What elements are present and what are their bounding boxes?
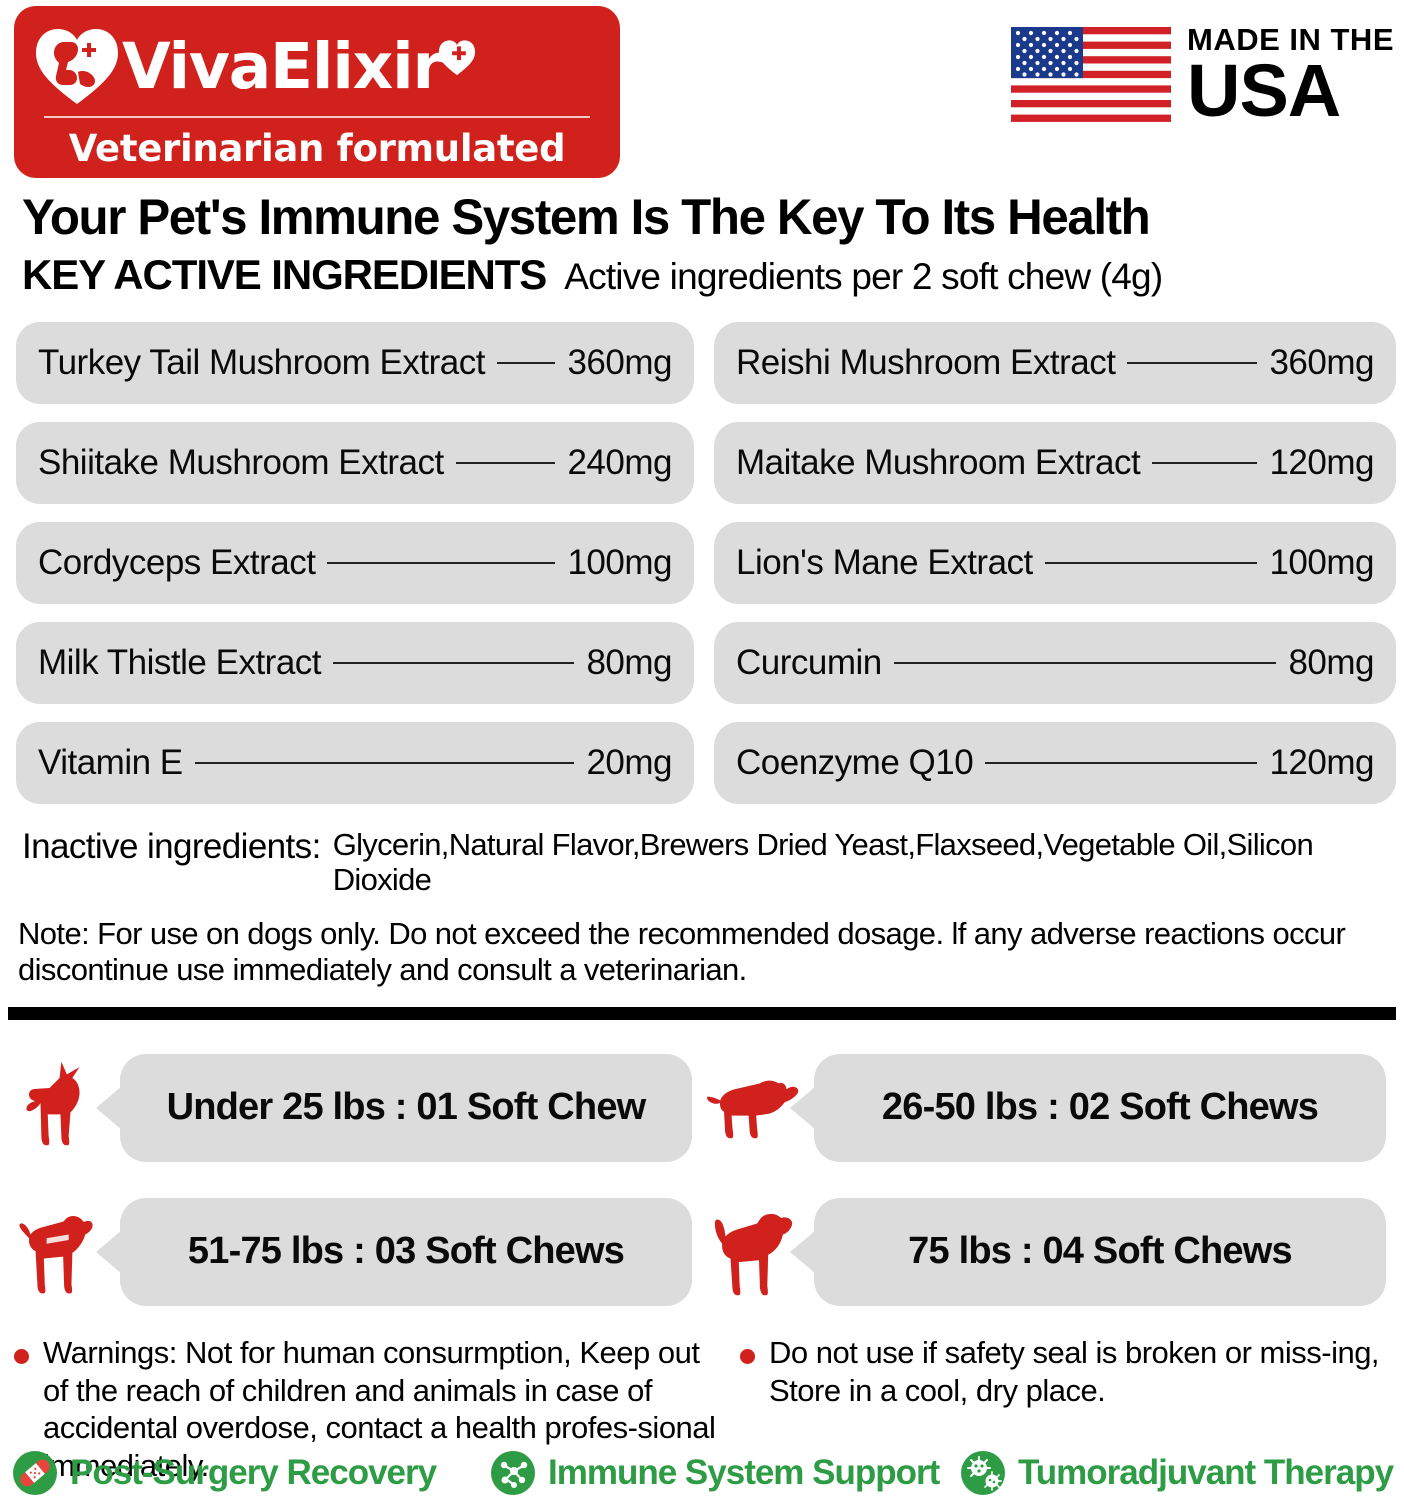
brand-top-row: VivaElixir	[34, 20, 600, 112]
dosage-bubble: 26-50 lbs : 02 Soft Chews	[814, 1054, 1386, 1162]
ingredient-name: Turkey Tail Mushroom Extract	[38, 343, 485, 383]
cell-icon	[960, 1450, 1006, 1496]
leader-line	[894, 662, 1277, 664]
ingredient-amount: 120mg	[1269, 743, 1374, 783]
leader-line	[456, 462, 556, 464]
dosage-row: 26-50 lbs : 02 Soft Chews	[704, 1036, 1398, 1180]
ingredient-row: Milk Thistle Extract 80mg	[16, 622, 694, 704]
leader-line	[1152, 462, 1257, 464]
leader-line	[1045, 562, 1258, 564]
benefit-item: Immune System Support	[490, 1450, 960, 1496]
leader-line	[195, 762, 575, 764]
leader-line	[497, 362, 556, 364]
dosage-label: Under 25 lbs : 01 Soft Chew	[167, 1086, 646, 1129]
bandage-icon	[12, 1450, 58, 1496]
dosage-label: 26-50 lbs : 02 Soft Chews	[882, 1086, 1318, 1129]
inactive-ingredients-label: Inactive ingredients:	[22, 827, 321, 867]
brand-name: VivaElixir	[122, 35, 442, 98]
brand-tagline: Veterinarian formulated	[34, 127, 600, 170]
brand-divider	[44, 116, 590, 118]
ingredient-row: Coenzyme Q10 120mg	[714, 722, 1396, 804]
ingredients-grid: Turkey Tail Mushroom Extract 360mg Reish…	[10, 313, 1390, 813]
dosage-row: 75 lbs : 04 Soft Chews	[704, 1180, 1398, 1324]
ingredient-name: Shiitake Mushroom Extract	[38, 443, 444, 483]
serving-size-label: Active ingredients per 2 soft chew (4g)	[564, 256, 1162, 298]
benefit-label: Post-Surgery Recovery	[70, 1453, 436, 1493]
ingredient-amount: 120mg	[1269, 443, 1374, 483]
ingredient-amount: 240mg	[567, 443, 672, 483]
made-in-usa-badge: MADE IN THE USA	[1011, 24, 1394, 125]
ingredient-amount: 360mg	[1269, 343, 1374, 383]
ingredient-name: Lion's Mane Extract	[736, 543, 1033, 583]
key-active-ingredients-label: KEY ACTIVE INGREDIENTS	[22, 251, 546, 299]
leader-line	[333, 662, 574, 664]
product-label-page: VivaElixir Veterinarian formulated	[0, 0, 1404, 1500]
ingredient-amount: 100mg	[567, 543, 672, 583]
dosage-label: 75 lbs : 04 Soft Chews	[908, 1230, 1292, 1273]
section-divider	[8, 1007, 1396, 1020]
dosage-bubble: 51-75 lbs : 03 Soft Chews	[120, 1198, 692, 1306]
ingredient-name: Maitake Mushroom Extract	[736, 443, 1140, 483]
ingredient-name: Milk Thistle Extract	[38, 643, 321, 683]
dosage-label: 51-75 lbs : 03 Soft Chews	[188, 1230, 624, 1273]
leader-line	[1127, 362, 1257, 364]
label-header: VivaElixir Veterinarian formulated	[0, 0, 1404, 188]
usa-flag-icon	[1011, 27, 1171, 122]
bullet-icon	[14, 1349, 29, 1364]
ingredient-name: Vitamin E	[38, 743, 183, 783]
benefits-row: Post-Surgery Recovery	[0, 1450, 1404, 1496]
ingredient-name: Cordyceps Extract	[38, 543, 315, 583]
ingredient-name: Coenzyme Q10	[736, 743, 973, 783]
molecule-icon	[490, 1450, 536, 1496]
dosage-bubble: 75 lbs : 04 Soft Chews	[814, 1198, 1386, 1306]
usage-note: Note: For use on dogs only. Do not excee…	[18, 916, 1396, 989]
ingredient-amount: 80mg	[1288, 643, 1374, 683]
ingredient-row: Reishi Mushroom Extract 360mg	[714, 322, 1396, 404]
brand-block: VivaElixir Veterinarian formulated	[14, 6, 620, 178]
inactive-ingredients-value: Glycerin,Natural Flavor,Brewers Dried Ye…	[333, 827, 1392, 898]
ingredient-name: Reishi Mushroom Extract	[736, 343, 1115, 383]
page-title: Your Pet's Immune System Is The Key To I…	[22, 190, 1369, 244]
warning-text: Do not use if safety seal is broken or m…	[769, 1334, 1400, 1410]
usa-label: USA	[1187, 57, 1394, 125]
usa-text-block: MADE IN THE USA	[1187, 24, 1394, 125]
ingredient-row: Cordyceps Extract 100mg	[16, 522, 694, 604]
benefit-item: Tumoradjuvant Therapy	[960, 1450, 1404, 1496]
ingredient-amount: 80mg	[586, 643, 672, 683]
ingredient-row: Vitamin E 20mg	[16, 722, 694, 804]
brand-wordmark: VivaElixir	[122, 35, 476, 98]
key-ingredients-subhead: KEY ACTIVE INGREDIENTS Active ingredient…	[22, 251, 1390, 299]
leader-line	[327, 562, 555, 564]
dosage-row: Under 25 lbs : 01 Soft Chew	[10, 1036, 704, 1180]
dosage-row: 51-75 lbs : 03 Soft Chews	[10, 1180, 704, 1324]
ingredient-amount: 360mg	[567, 343, 672, 383]
ingredient-row: Turkey Tail Mushroom Extract 360mg	[16, 322, 694, 404]
ingredient-name: Curcumin	[736, 643, 882, 683]
ingredient-amount: 100mg	[1269, 543, 1374, 583]
dosage-bubble: Under 25 lbs : 01 Soft Chew	[120, 1054, 692, 1162]
benefit-label: Immune System Support	[548, 1453, 939, 1493]
dosage-grid: Under 25 lbs : 01 Soft Chew 26-50 lbs : …	[10, 1036, 1392, 1324]
ingredient-row: Lion's Mane Extract 100mg	[714, 522, 1396, 604]
bullet-icon	[740, 1349, 755, 1364]
heart-plus-icon	[438, 39, 476, 77]
leader-line	[985, 762, 1257, 764]
benefit-label: Tumoradjuvant Therapy	[1018, 1453, 1393, 1493]
ingredient-row: Shiitake Mushroom Extract 240mg	[16, 422, 694, 504]
heart-dog-hand-icon	[34, 26, 120, 106]
benefit-item: Post-Surgery Recovery	[12, 1450, 490, 1496]
inactive-ingredients-row: Inactive ingredients: Glycerin,Natural F…	[22, 827, 1392, 898]
ingredient-amount: 20mg	[586, 743, 672, 783]
ingredient-row: Curcumin 80mg	[714, 622, 1396, 704]
ingredient-row: Maitake Mushroom Extract 120mg	[714, 422, 1396, 504]
